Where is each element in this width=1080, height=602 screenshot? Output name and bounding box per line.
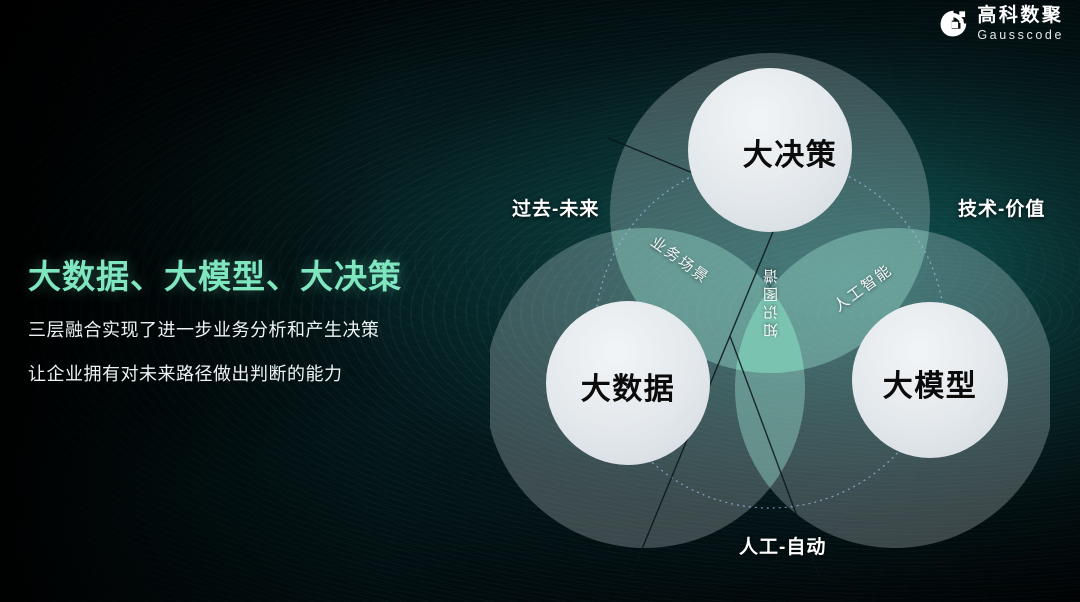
copy-block: 大数据、大模型、大决策 三层融合实现了进一步业务分析和产生决策 让企业拥有对未来… — [28, 250, 468, 404]
venn-intersection-label-kg: 知识图谱 — [761, 266, 782, 338]
venn-axis-label-manual-automatic: 人工-自动 — [739, 532, 826, 559]
venn-axis-label-tech-value: 技术-价值 — [958, 194, 1045, 221]
venn-core-label-model: 大模型 — [883, 361, 978, 405]
venn-core-label-decision: 大决策 — [743, 130, 838, 174]
slide-subtitle-line-2: 让企业拥有对未来路径做出判断的能力 — [28, 360, 468, 386]
slide-subtitle-line-1: 三层融合实现了进一步业务分析和产生决策 — [28, 316, 468, 342]
venn-axis-label-past-future: 过去-未来 — [512, 194, 599, 221]
presentation-slide: 高科数聚 Gausscode 大数据、大模型、大决策 三层融合实现了进一步业务分… — [0, 0, 1080, 602]
venn-core-label-bigdata: 大数据 — [581, 364, 676, 408]
slide-title: 大数据、大模型、大决策 — [28, 250, 468, 298]
